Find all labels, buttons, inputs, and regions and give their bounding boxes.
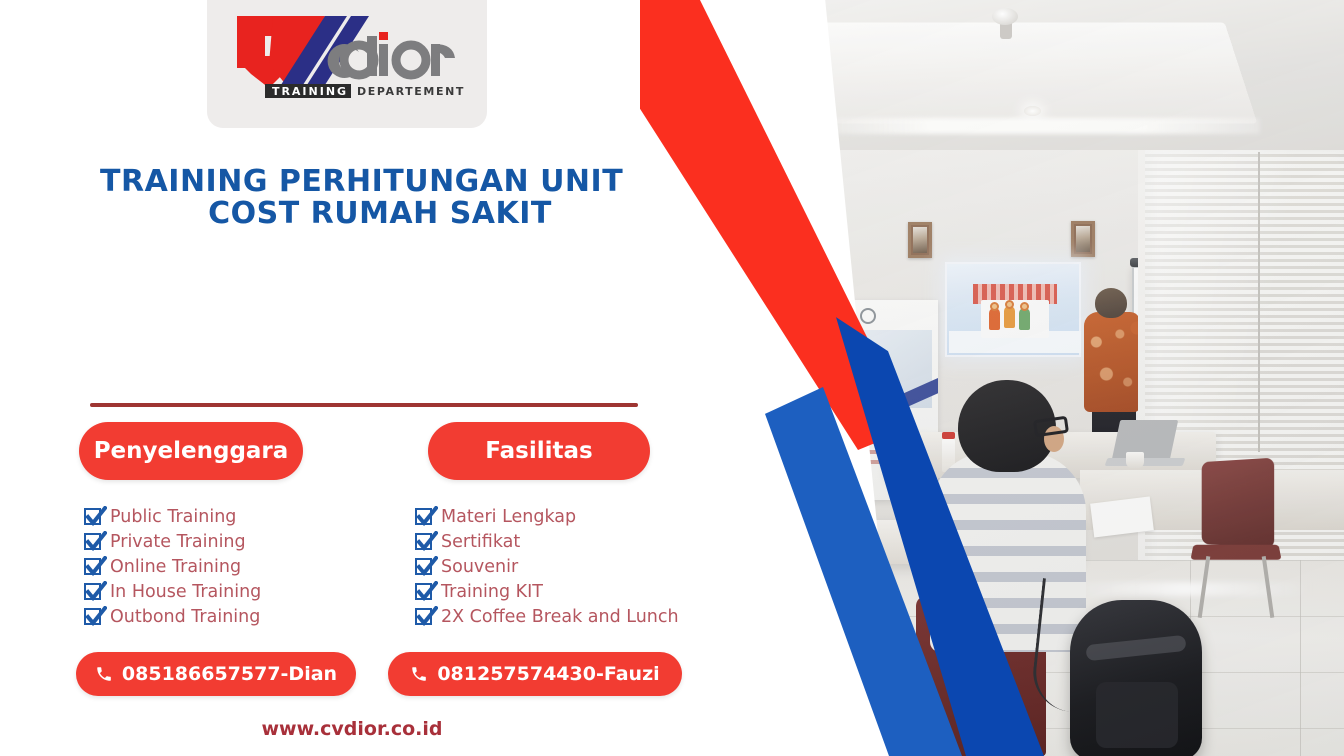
list-item: Public Training (84, 504, 261, 529)
window-frame (1138, 150, 1145, 620)
backpack-pocket (1096, 682, 1178, 748)
checkbox-checked-icon (84, 583, 101, 600)
list-item-label: In House Training (110, 582, 261, 602)
section-divider (90, 403, 638, 407)
contact-label: 085186657577-Dian (122, 663, 337, 685)
cvdior-logo: TRAINING DEPARTEMENT (229, 8, 465, 100)
checkbox-checked-icon (84, 508, 101, 525)
penyelenggara-list: Public Training Private Training Online … (84, 504, 261, 629)
doorway (724, 180, 806, 470)
chair-seat (1190, 545, 1281, 560)
list-item-label: Sertifikat (441, 532, 520, 552)
checkbox-checked-icon (84, 558, 101, 575)
rollup-banner-stand (680, 200, 685, 234)
photo-scene (640, 0, 1344, 756)
company-logo-panel: TRAINING DEPARTEMENT (207, 0, 487, 128)
phone-icon (95, 665, 113, 683)
backpack (1070, 600, 1202, 756)
checkbox-checked-icon (415, 508, 432, 525)
penyelenggara-label: Penyelenggara (94, 438, 289, 464)
phone-icon (410, 665, 428, 683)
slide-figure (1019, 308, 1030, 330)
ceiling-recess (663, 22, 1258, 123)
rollup-person-head (866, 344, 880, 358)
laptop-base (1105, 458, 1186, 466)
website-url[interactable]: www.cvdior.co.id (0, 718, 704, 740)
sanitizer-label (902, 452, 918, 466)
training-flyer-poster: TRAINING DEPARTEMENT TRAINING PERHITUNGA… (0, 0, 1344, 756)
list-item: Online Training (84, 554, 261, 579)
blinds-cord (1258, 152, 1260, 452)
training-room-photo (640, 0, 1344, 756)
slide-figure-head (1020, 302, 1029, 311)
paper-sheet (1090, 496, 1154, 537)
downlight-icon (1024, 106, 1041, 116)
cove-light (790, 118, 1260, 134)
visitor-chair (1188, 460, 1284, 590)
list-item-label: Outbond Training (110, 607, 260, 627)
contact-label: 081257574430-Fauzi (437, 663, 659, 685)
presenter-head (1095, 288, 1127, 318)
list-item: 2X Coffee Break and Lunch (415, 604, 679, 629)
bottle-cap (942, 432, 955, 439)
list-item-label: Souvenir (441, 557, 518, 577)
wall-edge (720, 160, 722, 460)
table-leg (876, 560, 887, 656)
list-item-label: Materi Lengkap (441, 507, 576, 527)
title-line-2: COST RUMAH SAKIT (100, 198, 660, 230)
checkbox-checked-icon (84, 608, 101, 625)
list-item: In House Training (84, 579, 261, 604)
checkbox-checked-icon (415, 583, 432, 600)
list-item-label: Training KIT (441, 582, 543, 602)
page-title: TRAINING PERHITUNGAN UNIT COST RUMAH SAK… (100, 166, 660, 229)
list-item-label: Online Training (110, 557, 241, 577)
logo-training-label: TRAINING (267, 84, 353, 98)
slide-figure-head (1005, 300, 1014, 309)
framed-portrait (908, 222, 932, 258)
backpack-handle (692, 0, 722, 10)
chair-back (1202, 458, 1274, 549)
list-item: Souvenir (415, 554, 679, 579)
backpack-strap (1085, 635, 1186, 661)
fasilitas-list: Materi Lengkap Sertifikat Souvenir Train… (415, 504, 679, 629)
rollup-logo-icon (860, 308, 876, 324)
smoke-detector-stem (1000, 23, 1012, 39)
projector-screen (945, 262, 1081, 357)
slide-figure (989, 308, 1000, 330)
list-item: Outbond Training (84, 604, 261, 629)
list-item-label: Public Training (110, 507, 236, 527)
checkbox-checked-icon (415, 558, 432, 575)
slide-figure (1004, 306, 1015, 328)
fasilitas-label: Fasilitas (485, 438, 592, 464)
slide-figure-head (990, 302, 999, 311)
title-line-1: TRAINING PERHITUNGAN UNIT (100, 164, 623, 199)
checkbox-checked-icon (415, 533, 432, 550)
table-leg (818, 560, 829, 656)
framed-portrait (1071, 221, 1095, 257)
contact-button-dian[interactable]: 085186657577-Dian (76, 652, 356, 696)
list-item-label: Private Training (110, 532, 246, 552)
laptop-screen (1112, 420, 1179, 460)
checkbox-checked-icon (415, 608, 432, 625)
downlight-icon (796, 127, 813, 137)
contact-button-fauzi[interactable]: 081257574430-Fauzi (388, 652, 682, 696)
checkbox-checked-icon (84, 533, 101, 550)
logo-departement-label: DEPARTEMENT (357, 84, 465, 98)
list-item: Sertifikat (415, 529, 679, 554)
list-item: Private Training (84, 529, 261, 554)
list-item: Training KIT (415, 579, 679, 604)
drinking-cup (1126, 452, 1144, 468)
list-item-label: 2X Coffee Break and Lunch (441, 607, 679, 627)
list-item: Materi Lengkap (415, 504, 679, 529)
smoke-detector-icon (992, 8, 1018, 25)
ceiling (640, 0, 1344, 170)
section-heading-penyelenggara: Penyelenggara (79, 422, 303, 480)
section-heading-fasilitas: Fasilitas (428, 422, 650, 480)
